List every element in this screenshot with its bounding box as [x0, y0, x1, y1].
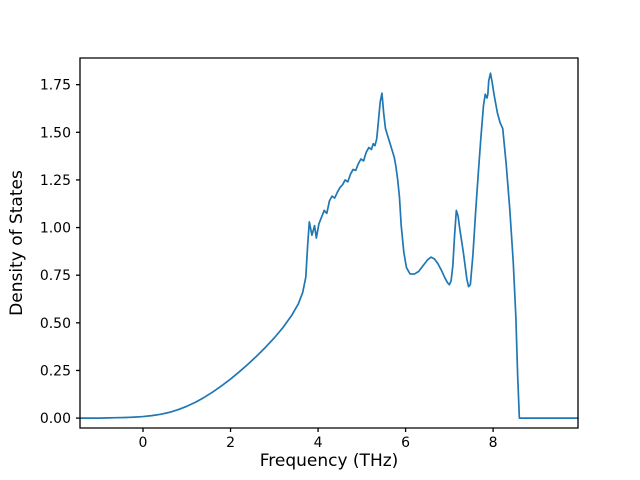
chart-page: 02468 0.000.250.500.751.001.251.501.75 F… — [0, 0, 640, 480]
x-tick-label: 2 — [226, 435, 235, 451]
y-tick-label: 1.75 — [40, 78, 71, 94]
x-tick-label: 8 — [489, 435, 498, 451]
y-tick-label: 1.50 — [40, 125, 71, 141]
density-of-states-figure: 02468 0.000.250.500.751.001.251.501.75 F… — [0, 0, 640, 480]
x-tick-label: 6 — [401, 435, 410, 451]
y-tick-label: 0.75 — [40, 268, 71, 284]
y-tick-label: 0.25 — [40, 363, 71, 379]
x-axis-label: Frequency (THz) — [260, 451, 399, 471]
y-tick-label: 1.25 — [40, 173, 71, 189]
y-tick-label: 1.00 — [40, 221, 71, 237]
y-tick-label: 0.00 — [40, 411, 71, 427]
x-tick-label: 4 — [314, 435, 323, 451]
y-tick-label: 0.50 — [40, 316, 71, 332]
figure-background — [0, 0, 640, 480]
x-tick-label: 0 — [139, 435, 148, 451]
y-axis-label: Density of States — [7, 170, 27, 316]
